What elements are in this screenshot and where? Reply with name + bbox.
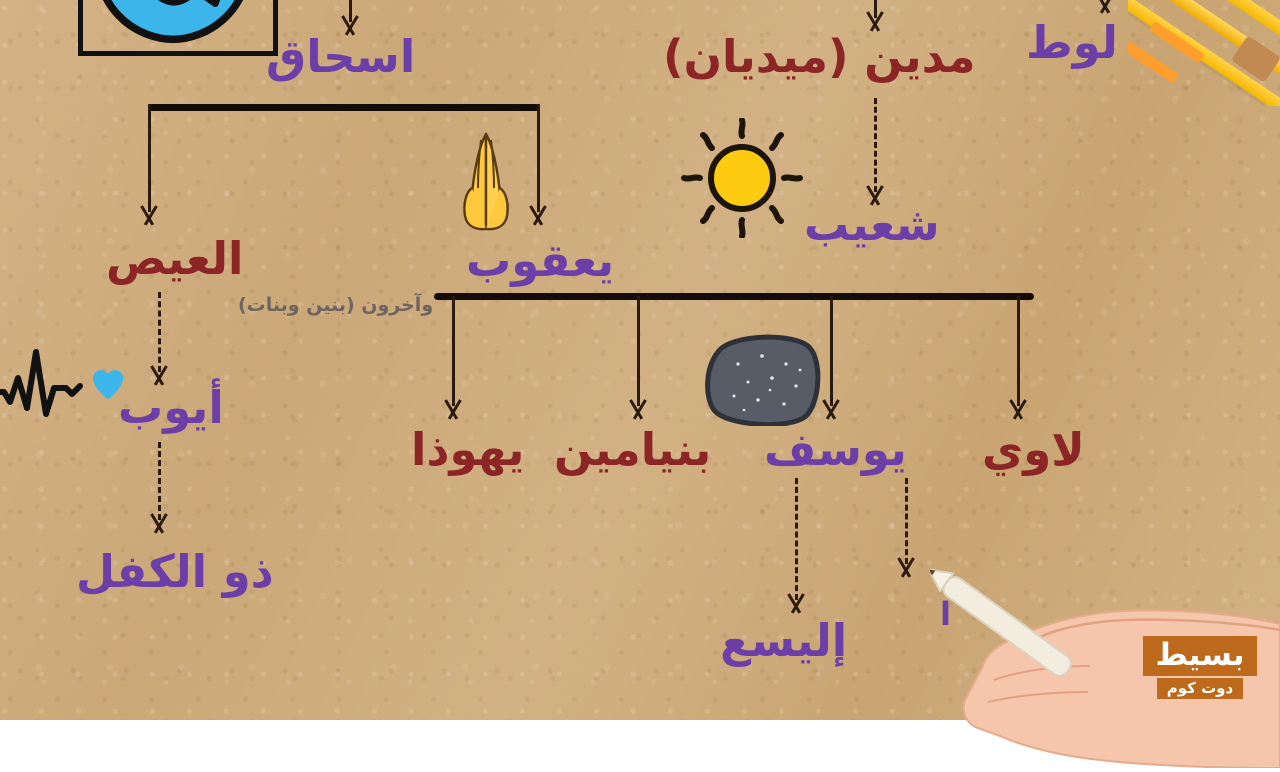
- logo[interactable]: بسيط دوت كوم: [1120, 636, 1280, 699]
- arrow-head-dhulkifl: [148, 514, 170, 532]
- node-lawi[interactable]: لاوي: [982, 427, 1085, 472]
- note-other-children: وآخرون (بنين وبنات): [238, 296, 433, 315]
- pencils-icon: [1128, 0, 1280, 106]
- arrow-head-binyamin: [627, 400, 649, 418]
- node-dhul-kifl[interactable]: ذو الكفل: [76, 549, 274, 594]
- logo-sub-text: دوت كوم: [1157, 678, 1243, 699]
- branch-line-aleis: [148, 104, 151, 212]
- diagram-canvas: اسحاق مدين (ميديان) لوط: [0, 0, 1280, 720]
- node-ishaq[interactable]: اسحاق: [266, 34, 415, 79]
- branch-line-yusuf: [830, 296, 833, 406]
- arrow-head-yahudha: [442, 400, 464, 418]
- arrow-head-alyasa: [785, 594, 807, 612]
- arrow-head-aleis: [138, 206, 160, 224]
- arrow-head-unfinished: [895, 558, 917, 576]
- sun-icon: [678, 118, 806, 238]
- arrow-head-lawi: [1007, 400, 1029, 418]
- branch-line-binyamin: [637, 296, 640, 406]
- whale-icon-frame: [78, 0, 278, 56]
- whale-icon: [83, 0, 263, 45]
- dashed-line-to-alyasa: [795, 478, 798, 600]
- dashed-line-unfinished: [905, 478, 908, 564]
- node-ayyub[interactable]: أيوب: [118, 385, 224, 430]
- sibling-bar-ishaq: [148, 104, 540, 111]
- dashed-line-ayyub-to-dhulkifl: [158, 442, 161, 520]
- dashed-line-madyan-to-shuayb: [874, 98, 877, 192]
- branch-line-yahudha: [452, 296, 455, 406]
- node-yaqub[interactable]: يعقوب: [466, 238, 614, 283]
- branch-line-yaqub: [537, 104, 540, 212]
- logo-main-text: بسيط: [1143, 636, 1256, 676]
- arrow-head-to-lut: [1094, 0, 1116, 12]
- node-yusuf[interactable]: يوسف: [764, 427, 907, 472]
- node-shuayb[interactable]: شعيب: [804, 202, 940, 247]
- node-binyamin[interactable]: بنيامين: [554, 427, 711, 472]
- node-alyasa[interactable]: إليسع: [720, 618, 847, 663]
- arrow-head-to-madyan: [864, 12, 886, 30]
- stone-icon: [700, 330, 826, 426]
- heartbeat-icon: [0, 348, 134, 422]
- branch-line-lawi: [1017, 296, 1020, 406]
- arrow-head-yaqub: [527, 206, 549, 224]
- sibling-bar-yaqub: [434, 293, 1034, 300]
- node-madyan[interactable]: مدين (ميديان): [663, 34, 975, 79]
- praying-hands-icon: [455, 130, 517, 234]
- node-lut[interactable]: لوط: [1026, 20, 1118, 65]
- dashed-line-aleis-to-ayyub: [158, 292, 161, 372]
- node-yahudha[interactable]: يهوذا: [411, 427, 524, 472]
- node-aleis[interactable]: العيص: [106, 236, 243, 281]
